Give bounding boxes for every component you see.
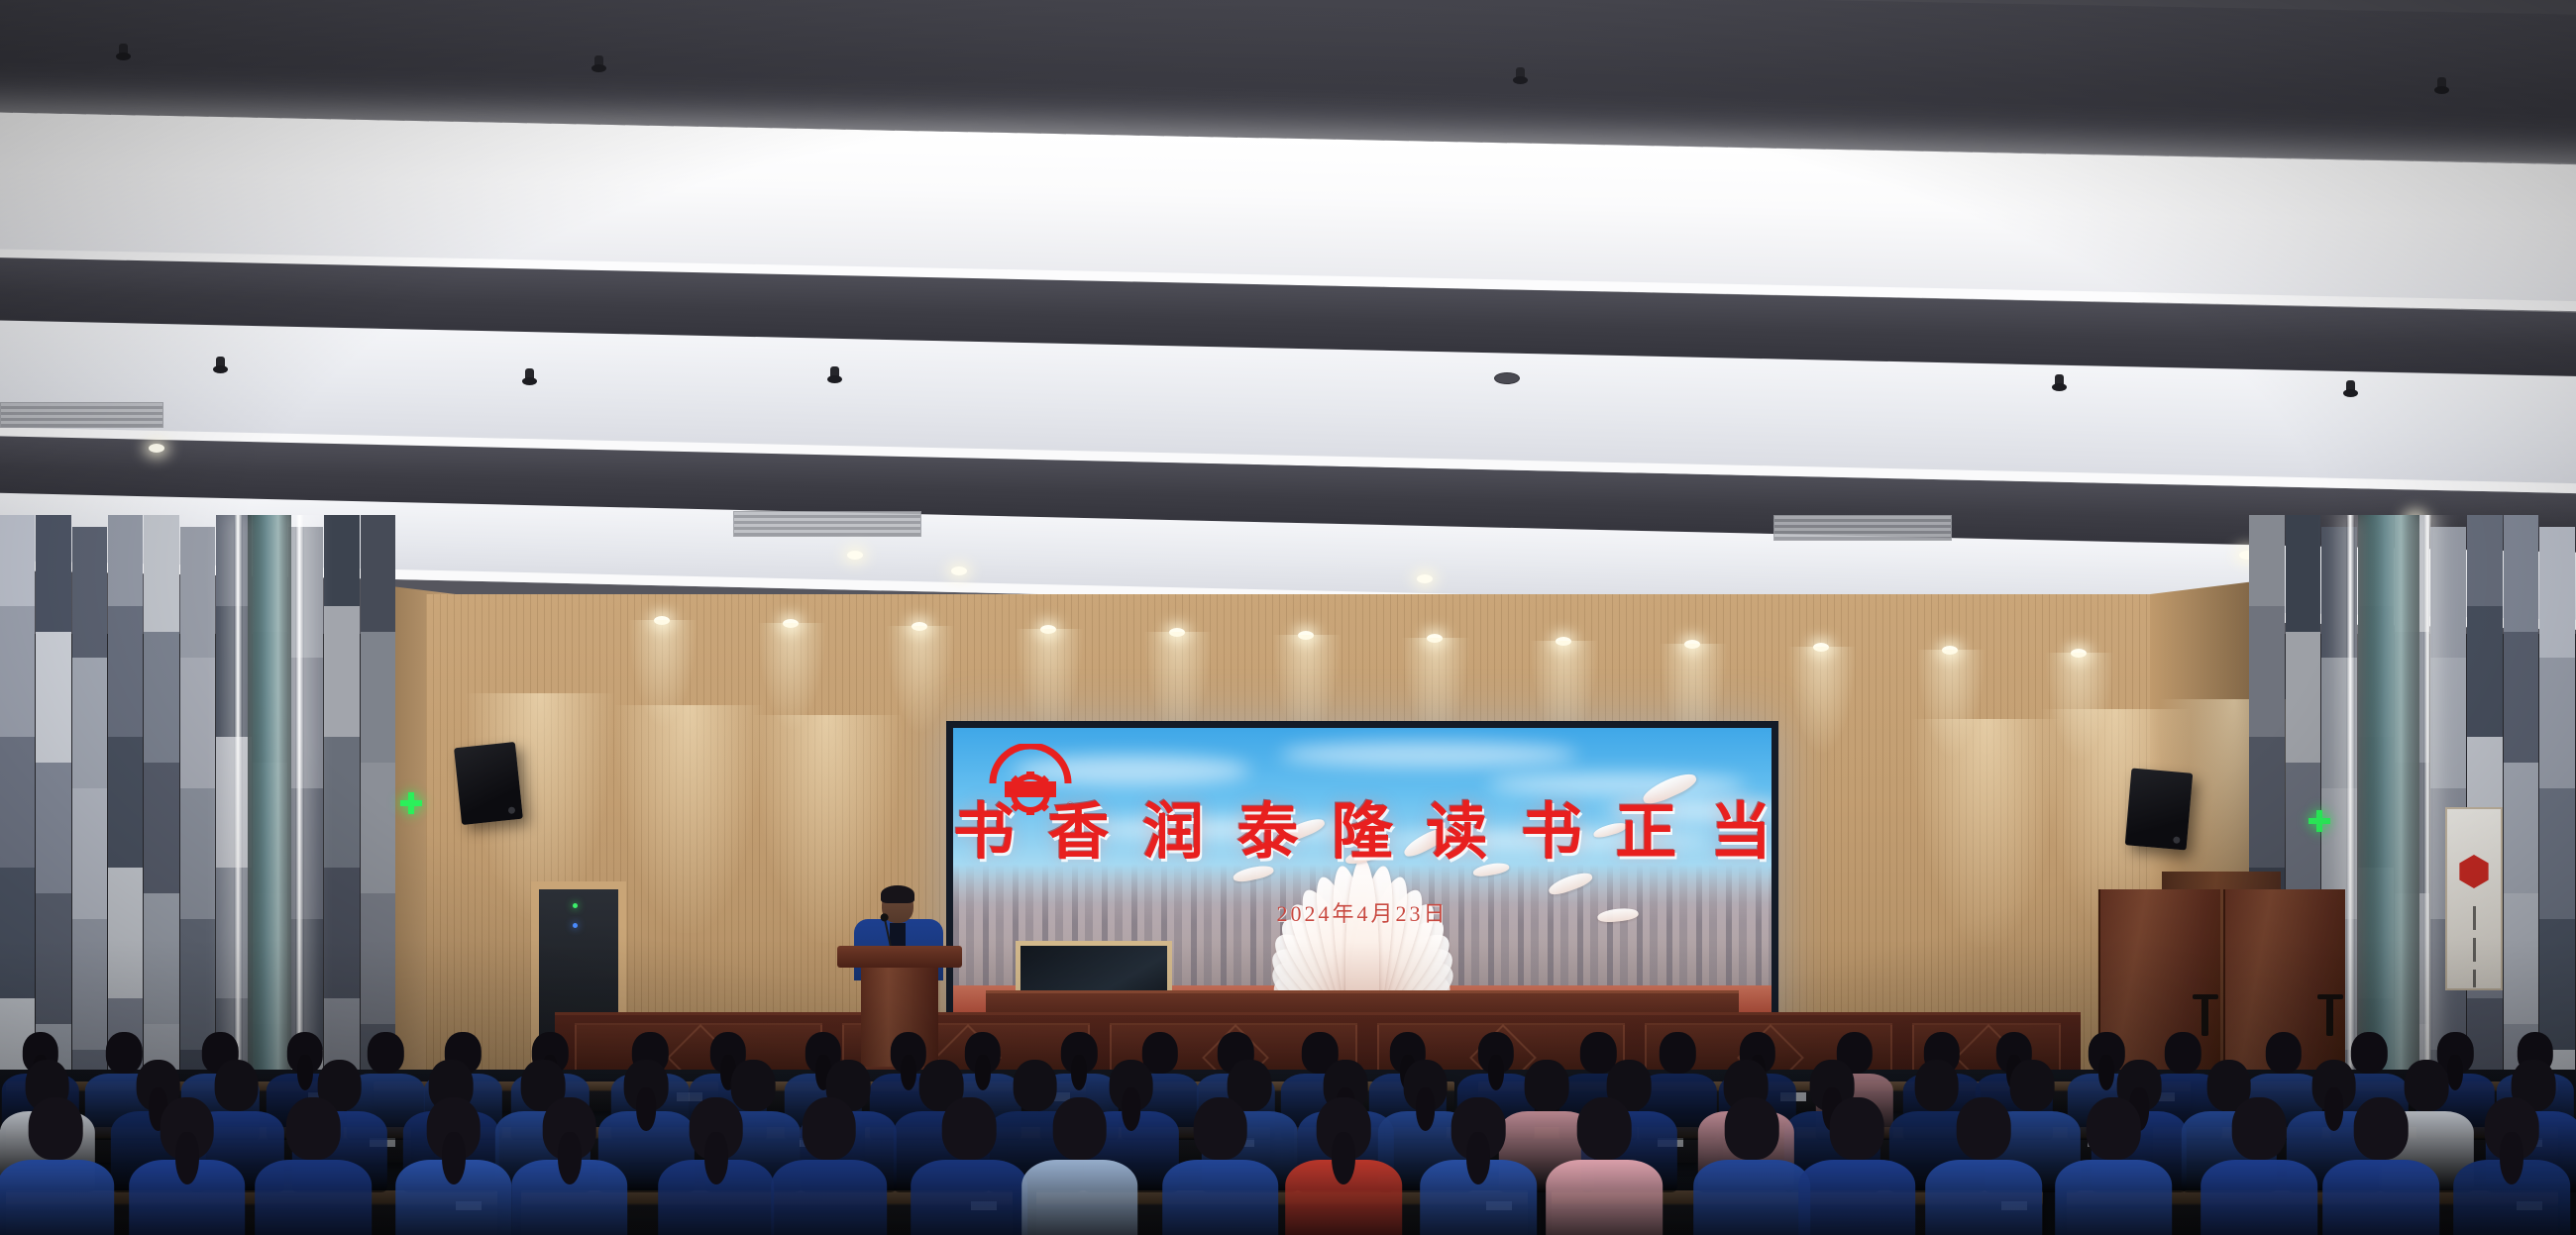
wall-stripe-tile <box>2539 788 2575 919</box>
wall-stripe-tile <box>2249 737 2285 868</box>
audience-member <box>1162 1097 1279 1235</box>
podium-top <box>837 946 962 968</box>
led-headline-text: 书 香 润 泰 隆 读 书 正 当 时 <box>953 781 1771 871</box>
door-handle-icon[interactable] <box>2201 998 2208 1036</box>
wall-stripe-tile <box>72 527 107 658</box>
audience-member-head <box>2232 1097 2287 1160</box>
audience-member <box>771 1097 888 1235</box>
presenter-hair <box>881 885 914 903</box>
sprinkler-icon <box>2346 380 2355 394</box>
audience-member-torso <box>1547 1160 1664 1235</box>
audience-member-torso <box>1162 1160 1279 1235</box>
audience-member-torso <box>771 1160 888 1235</box>
exit-sign-right <box>2308 810 2330 832</box>
audience-member-ponytail <box>636 1087 656 1131</box>
sprinkler-icon <box>830 366 839 380</box>
wall-stripe-tile <box>361 893 395 1038</box>
audience-member-ponytail <box>175 1132 199 1185</box>
wall-stripe-tile <box>144 515 178 632</box>
cloud-wisp <box>1280 742 1577 768</box>
wall-stripe-tile <box>324 868 359 1012</box>
wall-stripe-tile <box>324 515 359 606</box>
poster-text-line <box>2473 970 2476 987</box>
wall-stripe-tile <box>2286 515 2321 632</box>
wall-stripe-tile <box>36 893 70 1038</box>
downlight <box>149 444 164 453</box>
audience-member <box>1925 1097 2042 1235</box>
door-handle-icon[interactable] <box>2326 998 2333 1036</box>
wall-stripe-tile <box>36 515 70 632</box>
wall-stripe-tile <box>2286 632 2321 776</box>
stage-spotlight <box>1427 634 1443 643</box>
stage-spotlight <box>1942 646 1958 655</box>
wall-speaker-left <box>454 742 523 825</box>
sprinkler-icon <box>525 368 534 382</box>
wall-stripe-tile <box>108 606 143 751</box>
wall-stripe-tile <box>2539 658 2575 802</box>
audience-member-torso <box>1799 1160 1916 1235</box>
downlight <box>1417 574 1433 583</box>
audience-member-head <box>2354 1097 2409 1160</box>
audience-member-head <box>942 1097 997 1160</box>
wall-stripe-tile <box>2539 527 2575 658</box>
wall-stripe-tile <box>2430 658 2466 802</box>
wall-stripe-tile <box>2504 515 2539 632</box>
wall-stripe-tile <box>36 632 70 776</box>
audience-member <box>395 1097 512 1235</box>
air-vent-mid <box>733 511 921 537</box>
audience-member <box>1286 1097 1403 1235</box>
sprinkler-icon <box>119 44 128 57</box>
audience-member-torso <box>255 1160 372 1235</box>
status-led-blue <box>573 923 578 928</box>
wall-stripe-tile <box>361 632 395 776</box>
audience-member <box>2201 1097 2318 1235</box>
audience-member-torso <box>1925 1160 2042 1235</box>
wall-stripe-tile <box>2249 515 2285 606</box>
audience-member <box>0 1097 114 1235</box>
wall-stripe-tile <box>288 658 323 802</box>
audience-member <box>511 1097 628 1235</box>
audience-member-head <box>1193 1097 1247 1160</box>
wall-stripe-tile <box>288 788 323 919</box>
audience-member-ponytail <box>442 1132 466 1185</box>
air-vent-right <box>1773 515 1952 541</box>
wall-stripe-tile <box>361 515 395 632</box>
audience-member-torso <box>1021 1160 1138 1235</box>
sprinkler-icon <box>1516 67 1525 81</box>
wall-stripe-tile <box>2504 763 2539 893</box>
audience-member <box>1547 1097 1664 1235</box>
wall-speaker-right <box>2125 768 2194 850</box>
poster-hex-icon <box>2457 855 2491 888</box>
audience-member <box>1420 1097 1537 1235</box>
wall-stripe-tile <box>2249 606 2285 751</box>
audience-member-head <box>1830 1097 1884 1160</box>
wall-stripe-tile <box>2504 893 2539 1038</box>
stage-spotlight <box>1684 640 1700 649</box>
audience-member-head <box>1577 1097 1632 1160</box>
audience-member <box>658 1097 775 1235</box>
led-date-text: 2024年4月23日 <box>953 896 1771 928</box>
wall-stripe-tile <box>108 737 143 868</box>
audience-member <box>129 1097 246 1235</box>
wall-stripe-tile <box>144 763 178 893</box>
audience-member <box>255 1097 372 1235</box>
stage-spotlight <box>1813 643 1829 652</box>
wall-stripe-tile <box>36 763 70 893</box>
wall-stripe-tile <box>180 788 215 919</box>
sprinkler-icon <box>2055 374 2064 388</box>
audience-member-torso <box>0 1160 114 1235</box>
wall-stripe-tile <box>0 868 35 1012</box>
air-vent-left <box>0 402 163 428</box>
sprinkler-icon <box>216 357 225 370</box>
stage-spotlight <box>1169 628 1185 637</box>
audience-member-head <box>286 1097 341 1160</box>
wall-stripe-tile <box>72 658 107 802</box>
audience-member-head <box>802 1097 856 1160</box>
auditorium-photo: ® 书 香 润 泰 隆 读 书 正 当 时 2024年4月23日 <box>0 0 2576 1235</box>
poster-text-line <box>2473 938 2476 962</box>
stage-spotlight <box>1298 631 1314 640</box>
wall-stripe-tile <box>2467 606 2503 751</box>
audience-member-ponytail <box>704 1132 728 1185</box>
audience-member-torso <box>2201 1160 2318 1235</box>
audience-member <box>2454 1097 2571 1235</box>
audience-member <box>2322 1097 2439 1235</box>
wall-stripe-tile <box>324 606 359 751</box>
wall-stripe-tile <box>288 527 323 658</box>
stage-spotlight <box>1556 637 1571 646</box>
audience-member <box>912 1097 1028 1235</box>
exit-sign-left <box>400 792 422 814</box>
stage-spotlight <box>2071 649 2087 658</box>
wall-stripe-tile <box>2504 632 2539 776</box>
safety-poster <box>2445 807 2503 990</box>
audience-member-head <box>1725 1097 1779 1160</box>
wall-stripe-tile <box>144 632 178 776</box>
wall-stripe-tile <box>0 737 35 868</box>
wall-stripe-tile <box>0 606 35 751</box>
audience-member-head <box>29 1097 83 1160</box>
stage-spotlight <box>1040 625 1056 634</box>
audience-member-ponytail <box>1466 1132 1490 1185</box>
wall-stripe-tile <box>180 658 215 802</box>
poster-text-line <box>2473 906 2476 930</box>
wall-stripe-tile <box>324 737 359 868</box>
stage-spotlight <box>912 622 927 631</box>
wall-stripe-tile <box>2467 515 2503 606</box>
wall-stripe-tile <box>180 527 215 658</box>
wall-stripe-tile <box>72 788 107 919</box>
wall-stripe-tile <box>0 515 35 606</box>
downlight <box>847 551 863 560</box>
status-led-green <box>573 903 578 908</box>
wall-stripe-tile <box>2430 527 2466 658</box>
audience-member-ponytail <box>1332 1132 1355 1185</box>
audience-member <box>2055 1097 2172 1235</box>
downlight <box>951 566 967 575</box>
sprinkler-icon <box>2437 77 2446 91</box>
audience-member-torso <box>2322 1160 2439 1235</box>
wall-stripe-tile <box>108 515 143 606</box>
audience-member-torso <box>912 1160 1028 1235</box>
stage-spotlight <box>654 616 670 625</box>
audience-member-torso <box>1693 1160 1810 1235</box>
audience-member-head <box>1957 1097 2011 1160</box>
audience-member-torso <box>2055 1160 2172 1235</box>
audience-member-ponytail <box>2500 1132 2523 1185</box>
sprinkler-icon <box>594 55 603 69</box>
smoke-detector-icon <box>1494 372 1520 384</box>
wall-stripe-tile <box>108 868 143 1012</box>
wall-stripe-tile <box>361 763 395 893</box>
audience-member-head <box>1053 1097 1108 1160</box>
audience-member <box>1021 1097 1138 1235</box>
audience-member <box>1693 1097 1810 1235</box>
audience-member-head <box>2087 1097 2141 1160</box>
audience-member-ponytail <box>558 1132 582 1185</box>
stage-spotlight <box>783 619 799 628</box>
audience-member <box>1799 1097 1916 1235</box>
wall-stripe-tile <box>144 893 178 1038</box>
